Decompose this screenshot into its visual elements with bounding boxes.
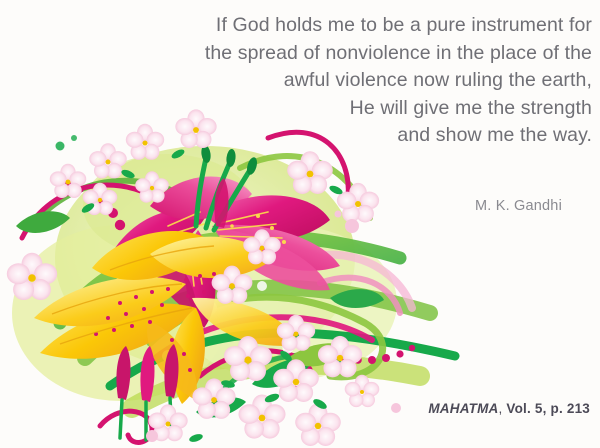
artwork-blossoms: [7, 109, 379, 446]
source-citation: MAHATMA, Vol. 5, p. 213: [428, 401, 590, 416]
source-reference: Vol. 5, p. 213: [506, 401, 590, 416]
source-title: MAHATMA: [428, 401, 498, 416]
artwork-lime-blobs: [12, 146, 397, 401]
quote-poster: If God holds me to be a pure instrument …: [0, 0, 600, 448]
artwork-pale-dots: [146, 211, 401, 443]
floral-bouquet-illustration: [0, 108, 480, 448]
quote-text: If God holds me to be a pure instrument …: [60, 12, 592, 150]
artwork-magenta-swirls: [22, 132, 412, 442]
quote-line-5: and show me the way.: [60, 122, 592, 150]
quote-line-2: the spread of nonviolence in the place o…: [60, 40, 592, 68]
quote-line-3: awful violence now ruling the earth,: [60, 67, 592, 95]
quote-author: M. K. Gandhi: [475, 198, 562, 214]
quote-line-4: He will give me the strength: [60, 95, 592, 123]
artwork-white-dots: [162, 281, 294, 362]
artwork-green-dots: [56, 135, 304, 430]
quote-line-1: If God holds me to be a pure instrument …: [60, 12, 592, 40]
artwork-magenta-buds: [116, 178, 228, 440]
artwork-leaf-accents: [80, 148, 344, 444]
artwork-yellow-lily: [34, 231, 300, 404]
artwork-green-swirls: [30, 156, 455, 408]
artwork-dot-trails: [53, 177, 415, 364]
artwork-pink-lily: [108, 144, 340, 328]
artwork-leaves: [16, 211, 384, 417]
